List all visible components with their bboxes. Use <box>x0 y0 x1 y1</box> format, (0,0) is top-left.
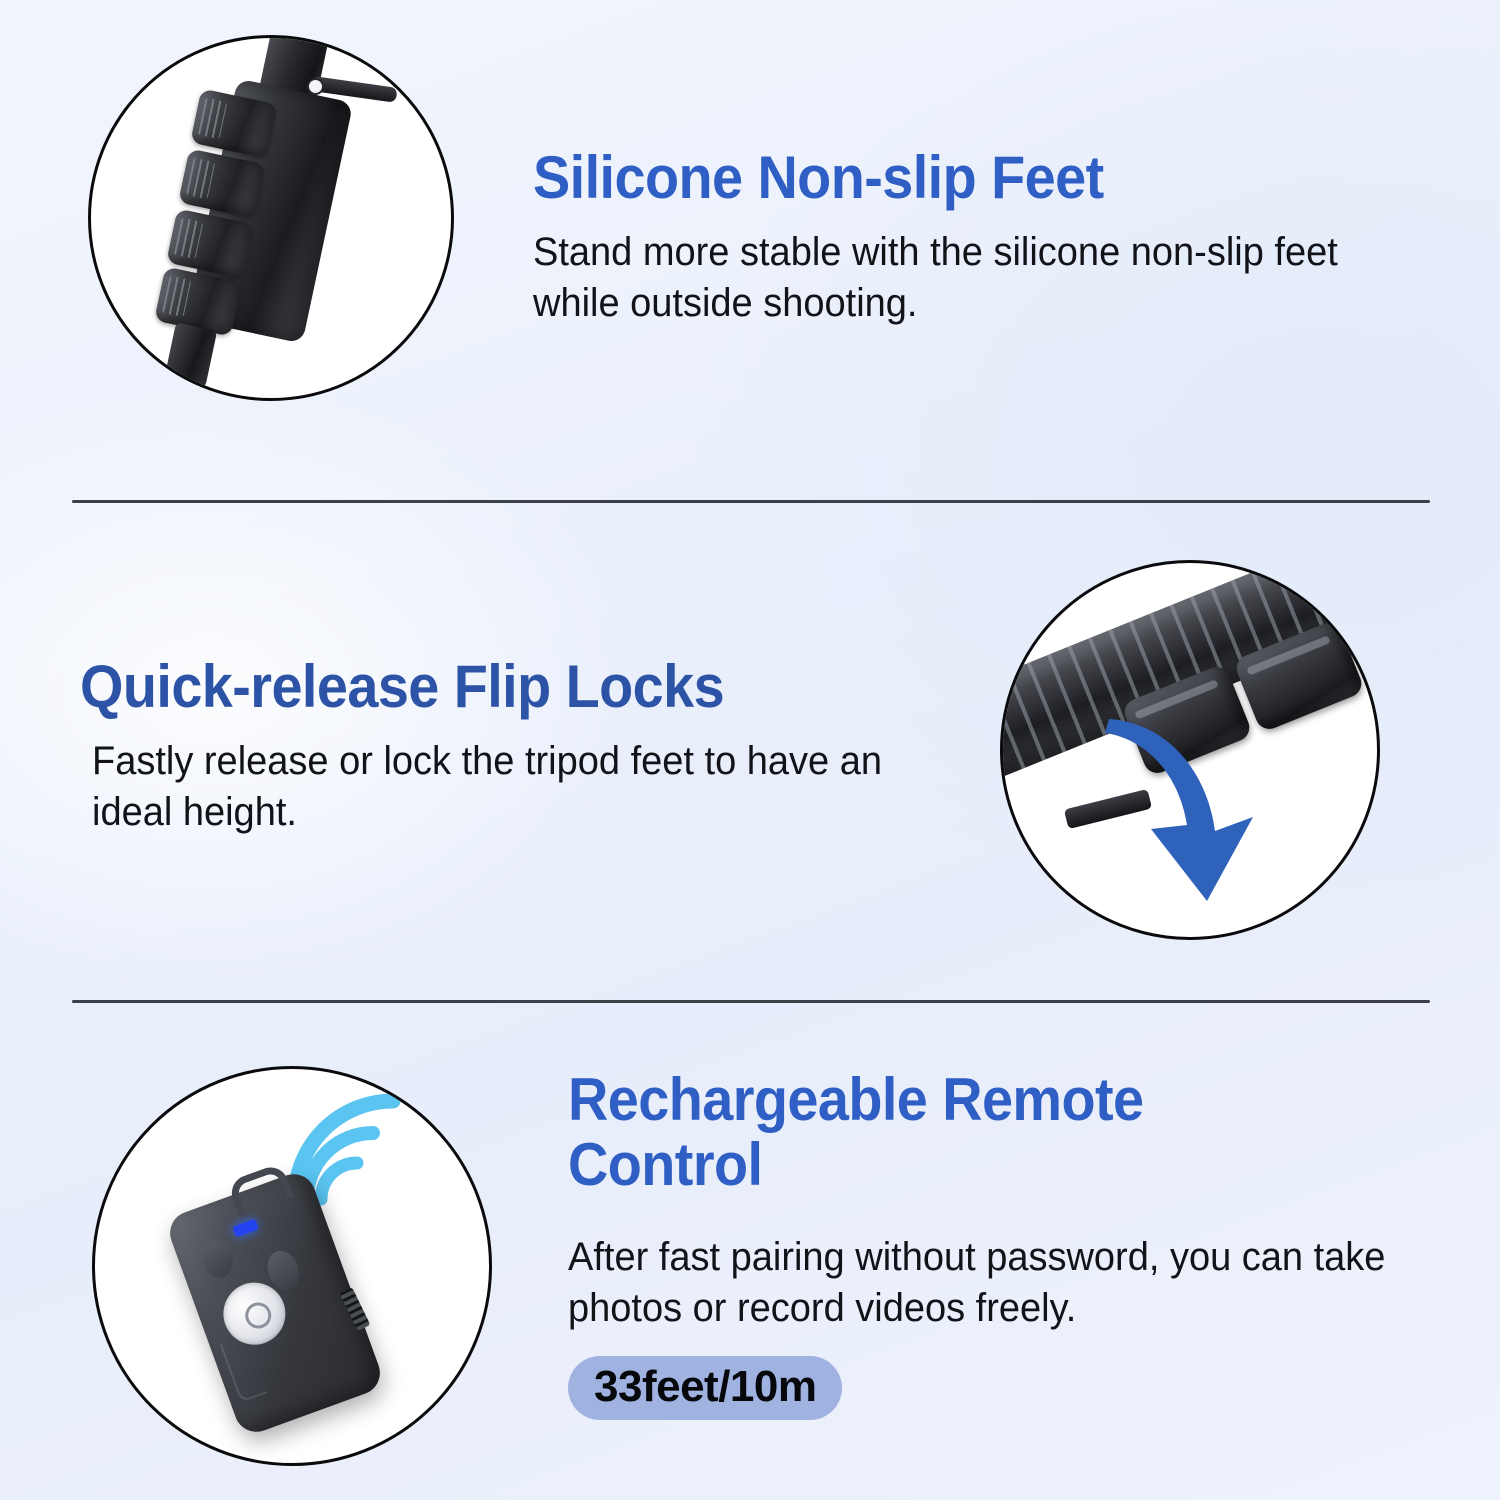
remote-control-illustration <box>95 1069 489 1463</box>
remote-led-indicator <box>232 1219 258 1238</box>
feature-image-flip-locks <box>1000 560 1380 940</box>
silicone-foot-tip <box>163 322 217 393</box>
section-divider-2 <box>72 1000 1430 1003</box>
curved-down-arrow-icon <box>1103 713 1333 913</box>
feature-description-flip-locks: Fastly release or lock the tripod feet t… <box>92 736 917 838</box>
remote-button-top <box>197 1236 238 1282</box>
feature-image-silicone-feet <box>88 35 454 401</box>
tripod-flip-lock-illustration <box>1003 563 1377 937</box>
feature-text-silicone-feet: Silicone Non-slip Feet Stand more stable… <box>533 146 1438 329</box>
feature-title-silicone-feet: Silicone Non-slip Feet <box>533 146 1375 211</box>
feature-title-remote-control: Rechargeable Remote Control <box>568 1068 1386 1198</box>
feature-text-flip-locks: Quick-release Flip Locks Fastly release … <box>80 655 960 838</box>
feature-title-flip-locks: Quick-release Flip Locks <box>80 655 898 720</box>
remote-case-seam <box>220 1335 268 1403</box>
feature-description-remote-control: After fast pairing without password, you… <box>568 1232 1404 1334</box>
tripod-leg-illustration <box>91 38 451 398</box>
feature-text-remote-control: Rechargeable Remote Control After fast p… <box>568 1068 1448 1420</box>
remote-charge-port <box>339 1287 370 1331</box>
feature-image-remote-control <box>92 1066 492 1466</box>
section-divider-1 <box>72 500 1430 503</box>
feature-description-silicone-feet: Stand more stable with the silicone non-… <box>533 227 1393 329</box>
range-badge: 33feet/10m <box>568 1356 842 1420</box>
infographic-page: Silicone Non-slip Feet Stand more stable… <box>0 0 1500 1500</box>
